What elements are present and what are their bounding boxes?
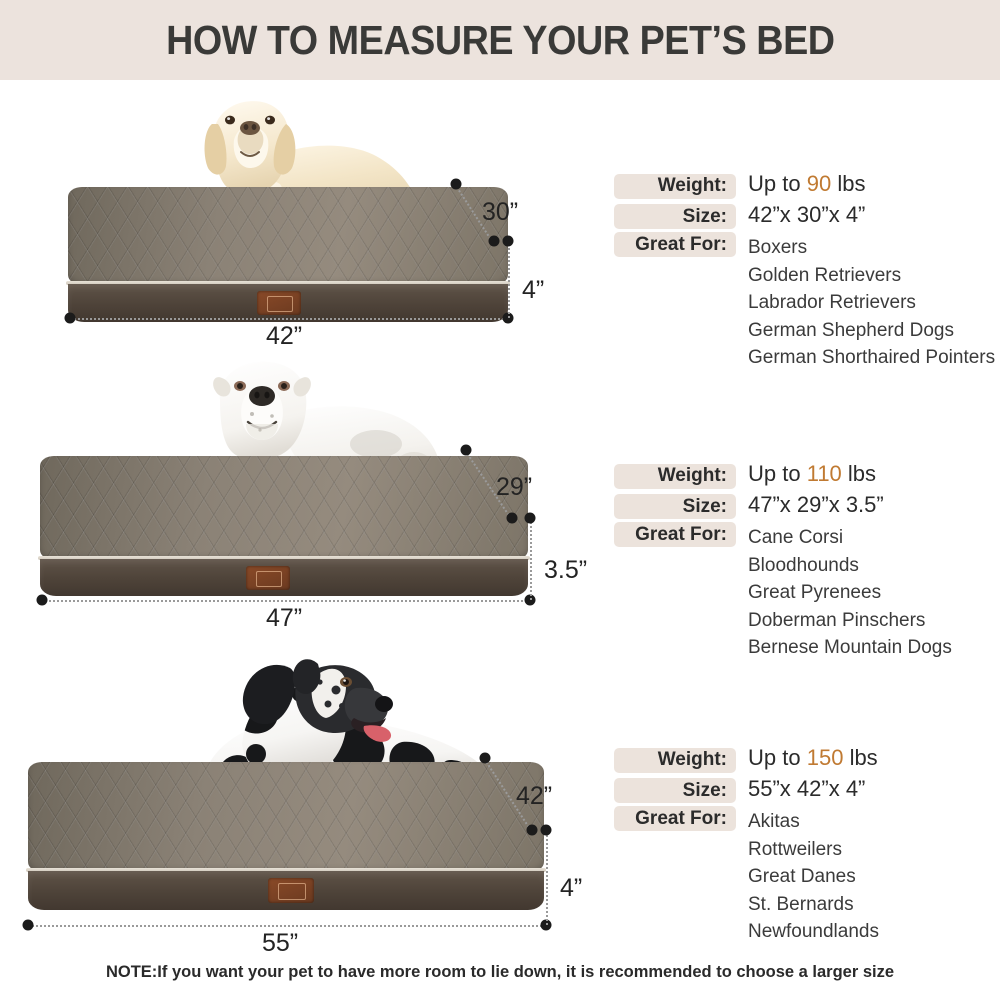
- dimension-label-width: 47”: [266, 604, 302, 633]
- bed-xlarge: [22, 762, 550, 910]
- page-header: HOW TO MEASURE YOUR PET’S BED: [0, 0, 1000, 80]
- weight-value: 150: [807, 745, 844, 770]
- dimension-dot: [461, 445, 472, 456]
- weight-value: 90: [807, 171, 831, 196]
- dimension-line-width: [70, 318, 508, 320]
- footer-note: NOTE:If you want your pet to have more r…: [15, 962, 985, 982]
- bed-top-surface: [40, 456, 528, 560]
- label-size: Size:: [614, 204, 736, 229]
- breed-item: German Shorthaired Pointers: [748, 344, 995, 372]
- spec-row-size: Size: 47”x 29”x 3.5”: [614, 492, 952, 520]
- breed-item: Golden Retrievers: [748, 262, 995, 290]
- label-great-for: Great For:: [614, 522, 736, 547]
- breed-item: Bernese Mountain Dogs: [748, 634, 952, 662]
- breed-list-medium: Boxers Golden Retrievers Labrador Retrie…: [748, 234, 995, 372]
- weight-unit: lbs: [837, 171, 865, 196]
- dimension-dot: [489, 236, 500, 247]
- weight-prefix: Up to: [748, 745, 801, 770]
- breed-item: Rottweilers: [748, 836, 879, 864]
- dimension-label-height: 3.5”: [544, 556, 587, 585]
- brand-logo-patch: [268, 878, 314, 903]
- dimension-dot: [507, 513, 518, 524]
- dimension-label-depth: 30”: [482, 198, 518, 227]
- dimension-dot: [541, 825, 552, 836]
- dimension-dot: [451, 179, 462, 190]
- breed-item: Great Pyrenees: [748, 579, 952, 607]
- breed-item: Akitas: [748, 808, 879, 836]
- bed-top-surface: [28, 762, 544, 872]
- label-size: Size:: [614, 494, 736, 519]
- bed-large: [34, 456, 534, 596]
- weight-value: 110: [807, 461, 842, 486]
- brand-logo-patch: [257, 291, 301, 315]
- dimension-label-depth: 42”: [516, 782, 552, 811]
- value-weight: Up to 90 lbs: [748, 171, 865, 197]
- breed-item: St. Bernards: [748, 891, 879, 919]
- dimension-line-height: [508, 241, 510, 318]
- dimension-label-depth: 29”: [496, 473, 532, 502]
- spec-row-size: Size: 55”x 42”x 4”: [614, 776, 879, 804]
- breed-item: Doberman Pinschers: [748, 607, 952, 635]
- dimension-label-height: 4”: [560, 874, 582, 903]
- weight-unit: lbs: [850, 745, 878, 770]
- dimension-label-width: 42”: [266, 322, 302, 351]
- breed-list-large: Cane Corsi Bloodhounds Great Pyrenees Do…: [748, 524, 952, 662]
- bed-top-surface: [68, 187, 508, 285]
- spec-row-weight: Weight: Up to 150 lbs: [614, 745, 879, 773]
- label-weight: Weight:: [614, 748, 736, 773]
- breed-item: Newfoundlands: [748, 918, 879, 946]
- spec-row-weight: Weight: Up to 110 lbs: [614, 461, 952, 489]
- label-weight: Weight:: [614, 174, 736, 199]
- dimension-dot: [65, 313, 76, 324]
- weight-prefix: Up to: [748, 461, 801, 486]
- spec-row-size: Size: 42”x 30”x 4”: [614, 202, 995, 230]
- value-size: 55”x 42”x 4”: [748, 776, 865, 802]
- value-size: 47”x 29”x 3.5”: [748, 492, 884, 518]
- dimension-dot: [525, 513, 536, 524]
- page-title: HOW TO MEASURE YOUR PET’S BED: [166, 17, 834, 64]
- dimension-dot: [503, 236, 514, 247]
- label-great-for: Great For:: [614, 232, 736, 257]
- spec-block-xlarge: Weight: Up to 150 lbs Size: 55”x 42”x 4”…: [614, 745, 879, 946]
- dimension-line-width: [28, 925, 546, 927]
- dimension-dot: [527, 825, 538, 836]
- dimension-line-height: [530, 518, 532, 600]
- dimension-line-width: [42, 600, 530, 602]
- bed-medium: [62, 187, 514, 322]
- spec-block-medium: Weight: Up to 90 lbs Size: 42”x 30”x 4” …: [614, 171, 995, 372]
- spec-block-large: Weight: Up to 110 lbs Size: 47”x 29”x 3.…: [614, 461, 952, 662]
- breed-item: Bloodhounds: [748, 552, 952, 580]
- breed-list-xlarge: Akitas Rottweilers Great Danes St. Berna…: [748, 808, 879, 946]
- weight-unit: lbs: [848, 461, 876, 486]
- breed-item: Boxers: [748, 234, 995, 262]
- dimension-dot: [480, 753, 491, 764]
- dimension-label-width: 55”: [262, 929, 298, 958]
- brand-logo-patch: [246, 566, 290, 590]
- label-great-for: Great For:: [614, 806, 736, 831]
- dimension-dot: [23, 920, 34, 931]
- breed-item: Great Danes: [748, 863, 879, 891]
- breed-item: German Shepherd Dogs: [748, 317, 995, 345]
- breed-item: Labrador Retrievers: [748, 289, 995, 317]
- dimension-line-height: [546, 830, 548, 925]
- dimension-dot: [37, 595, 48, 606]
- weight-prefix: Up to: [748, 171, 801, 196]
- spec-row-weight: Weight: Up to 90 lbs: [614, 171, 995, 199]
- label-weight: Weight:: [614, 464, 736, 489]
- value-weight: Up to 150 lbs: [748, 745, 878, 771]
- value-size: 42”x 30”x 4”: [748, 202, 865, 228]
- value-weight: Up to 110 lbs: [748, 461, 876, 487]
- dimension-label-height: 4”: [522, 276, 544, 305]
- label-size: Size:: [614, 778, 736, 803]
- breed-item: Cane Corsi: [748, 524, 952, 552]
